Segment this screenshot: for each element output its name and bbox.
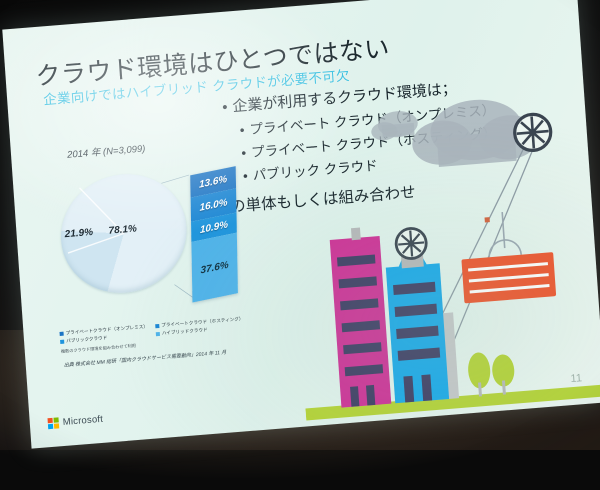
slide-surface: クラウド環境はひとつではない 企業向けではハイブリッド クラウドが必要不可欠 •…	[2, 0, 600, 449]
pulley-wheel-lower-icon	[395, 227, 427, 259]
bullet-marker: •	[222, 99, 228, 116]
cloud-gondola-city-illustration	[284, 73, 600, 426]
pie-label-primary: 78.1%	[108, 223, 137, 236]
page-number: 11	[570, 372, 582, 385]
legend-label: ハイブリッドクラウド	[162, 328, 208, 337]
pulley-wheel-icon	[514, 113, 552, 152]
building-cyan	[384, 235, 449, 403]
legend-swatch	[155, 324, 159, 328]
legend-swatch	[59, 331, 63, 335]
bar-segment: 37.6%	[191, 233, 238, 303]
projected-slide: クラウド環境はひとつではない 企業向けではハイブリッド クラウドが必要不可欠 •…	[2, 0, 600, 449]
building-magenta	[329, 226, 391, 408]
cloud-small-icon	[370, 110, 419, 142]
pie-chart-figure: 2014 年 (N=3,099) 78.1% 21.9% 13.6% 16.0%…	[40, 129, 256, 389]
brand-wordmark: Microsoft	[62, 414, 103, 428]
stacked-bar-breakout: 13.6% 16.0% 10.9% 37.6%	[190, 166, 238, 302]
legend-swatch	[156, 332, 160, 336]
microsoft-flag-icon	[47, 417, 59, 429]
legend-swatch	[60, 340, 64, 344]
tree-icon	[467, 352, 492, 398]
legend-label: パブリッククラウド	[66, 336, 107, 344]
gondola-cabin	[461, 252, 556, 303]
microsoft-logo: Microsoft	[47, 414, 103, 429]
tree-icon	[491, 354, 516, 396]
hanger-bolt	[485, 217, 490, 222]
pie-label-secondary: 21.9%	[64, 227, 93, 240]
